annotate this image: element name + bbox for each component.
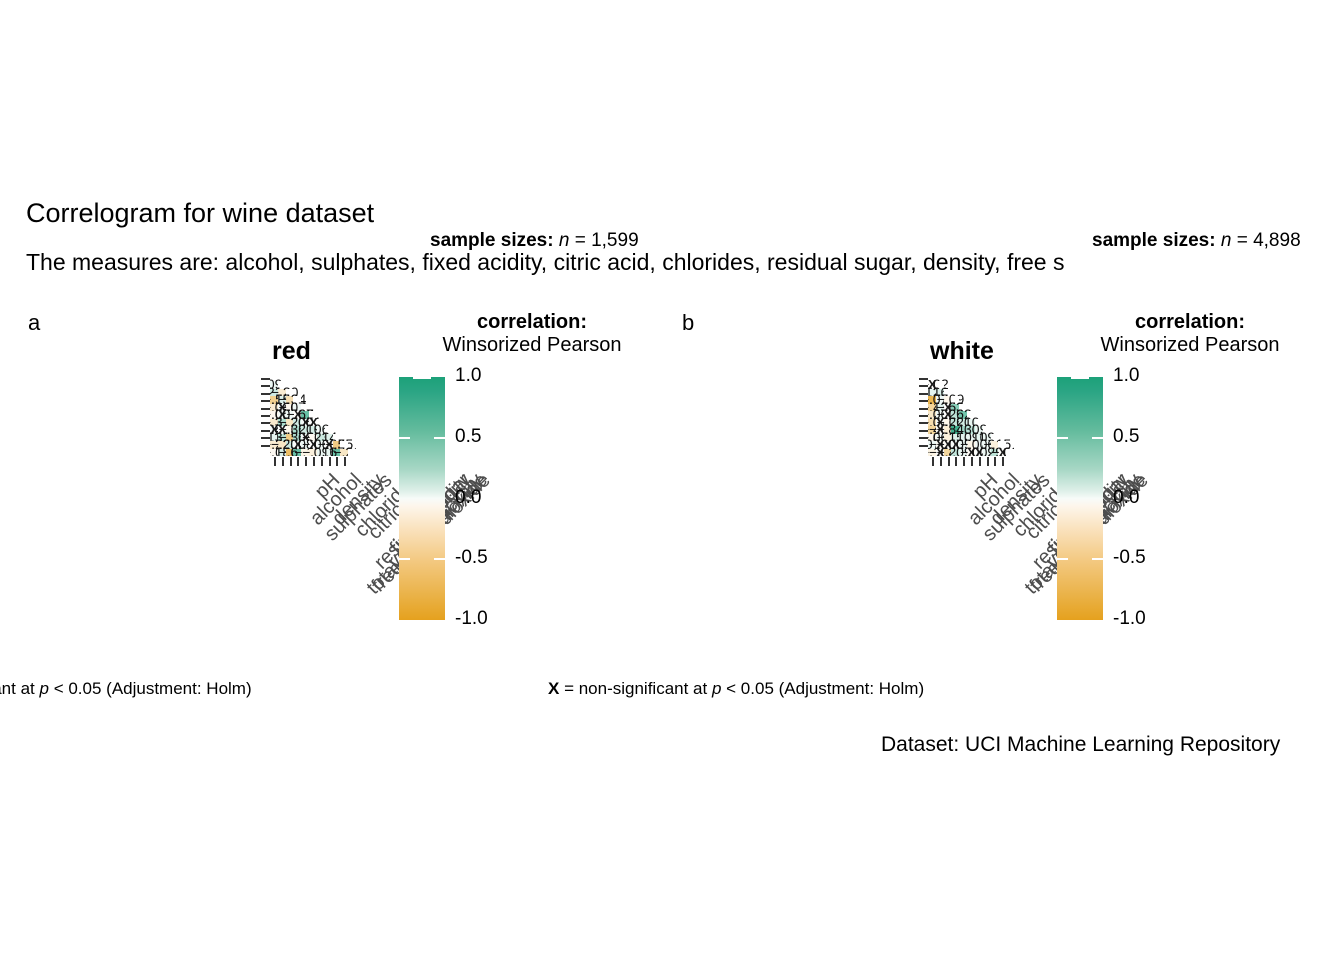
y-axis-tick	[261, 393, 270, 395]
x-axis-tick	[313, 457, 315, 466]
x-axis-tick	[948, 457, 950, 466]
y-axis-tick	[261, 385, 270, 387]
colorbar-break-mark	[413, 377, 431, 379]
y-axis-tick	[919, 393, 928, 395]
y-axis-tick	[919, 430, 928, 432]
x-axis-tick	[994, 457, 996, 466]
x-axis-tick	[297, 457, 299, 466]
x-axis-tick	[955, 457, 957, 466]
y-axis-tick	[261, 408, 270, 410]
colorbar-break-mark	[1057, 558, 1068, 560]
colorbar-tick-label: 1.0	[1113, 365, 1139, 387]
y-axis-tick	[261, 437, 270, 439]
colorbar-tick-label: 0.0	[1113, 487, 1139, 509]
page-subtitle: The measures are: alcohol, sulphates, fi…	[26, 249, 1064, 276]
x-axis-tick	[336, 457, 338, 466]
y-axis-tick	[261, 415, 270, 417]
x-axis-tick	[979, 457, 981, 466]
colorbar-tick-label: 0.5	[1113, 426, 1139, 448]
colorbar-tick-label: -1.0	[1113, 608, 1146, 630]
sample-size-white: sample sizes: n = 4,898	[1092, 231, 1272, 252]
x-axis-tick	[932, 457, 934, 466]
x-axis-tick	[274, 457, 276, 466]
y-axis-tick	[919, 378, 928, 380]
colorbar-break-mark	[1092, 437, 1103, 439]
x-axis-tick	[290, 457, 292, 466]
significance-caption-white-prefix: X	[548, 679, 559, 698]
y-axis-tick	[261, 430, 270, 432]
page-title: Correlogram for wine dataset	[26, 198, 374, 229]
y-axis-tick	[919, 415, 928, 417]
x-axis-tick	[940, 457, 942, 466]
colorbar-break-mark	[399, 558, 410, 560]
sample-size-value-white: n = 4,898	[1221, 230, 1301, 251]
colorbar-tick-label: 0.0	[455, 487, 481, 509]
panel-title-red: red	[272, 337, 311, 366]
legend-title-white: correlation: Winsorized Pearson	[1050, 311, 1330, 357]
sample-size-header-white: sample sizes:	[1092, 230, 1216, 251]
sample-size-header-red: sample sizes:	[430, 230, 554, 251]
y-axis-tick	[919, 437, 928, 439]
colorbar-tick-label: -0.5	[455, 547, 488, 569]
y-axis-tick	[261, 445, 270, 447]
y-axis-tick	[919, 422, 928, 424]
colorbar-break-mark	[1071, 377, 1089, 379]
x-axis-tick	[987, 457, 989, 466]
y-axis-tick	[919, 400, 928, 402]
x-axis-tick	[321, 457, 323, 466]
sample-size-red: sample sizes: n = 1,599	[430, 231, 610, 252]
x-axis-tick	[344, 457, 346, 466]
matrix-cell	[1006, 449, 1014, 456]
legend-subtitle-red: Winsorized Pearson	[392, 334, 672, 357]
colorbar-break-mark	[434, 558, 445, 560]
legend-title-red: correlation: Winsorized Pearson	[392, 311, 672, 357]
colorbar-break-mark	[1092, 558, 1103, 560]
colorbar-white	[1057, 377, 1103, 620]
matrix-cell	[348, 449, 356, 456]
x-axis-tick	[963, 457, 965, 466]
y-axis-tick	[919, 445, 928, 447]
x-axis-tick	[282, 457, 284, 466]
legend-header-white: correlation:	[1050, 311, 1330, 334]
legend-header-red: correlation:	[392, 311, 672, 334]
colorbar-tick-label: -1.0	[455, 608, 488, 630]
y-axis-tick	[261, 400, 270, 402]
colorbar-tick-label: -0.5	[1113, 547, 1146, 569]
y-axis-tick	[919, 408, 928, 410]
colorbar-break-mark	[1057, 437, 1068, 439]
panel-title-white: white	[930, 337, 994, 366]
x-axis-tick	[971, 457, 973, 466]
matrix-cells-red[interactable]: .09.21−.20−.50.15−.34−.21.04X−.07.07−.07…	[270, 374, 356, 456]
significance-caption-white: X = non-significant at p < 0.05 (Adjustm…	[548, 679, 924, 699]
panel-tag-a: a	[28, 310, 40, 336]
sample-size-value-red: n = 1,599	[559, 230, 639, 251]
y-axis-tick	[261, 422, 270, 424]
significance-caption-red: nificant at p < 0.05 (Adjustment: Holm)	[0, 679, 252, 699]
y-axis-tick	[261, 378, 270, 380]
panel-tag-b: b	[682, 310, 694, 336]
colorbar-break-mark	[434, 437, 445, 439]
x-axis-tick	[305, 457, 307, 466]
significance-caption-white-text: = non-significant at p < 0.05 (Adjustmen…	[559, 679, 924, 698]
x-axis-tick	[329, 457, 331, 466]
legend-subtitle-white: Winsorized Pearson	[1050, 334, 1330, 357]
significance-caption-red-text: nificant at p < 0.05 (Adjustment: Holm)	[0, 679, 252, 698]
colorbar-break-mark	[399, 437, 410, 439]
colorbar-tick-label: 0.5	[455, 426, 481, 448]
y-axis-tick	[919, 385, 928, 387]
x-axis-tick	[1002, 457, 1004, 466]
colorbar-tick-label: 1.0	[455, 365, 481, 387]
colorbar-red	[399, 377, 445, 620]
matrix-cells-white[interactable]: −.02X.12.16−.78.07−.09−.45.13−.00X.53−.2…	[928, 374, 1014, 456]
dataset-credit: Dataset: UCI Machine Learning Repository	[881, 733, 1280, 757]
